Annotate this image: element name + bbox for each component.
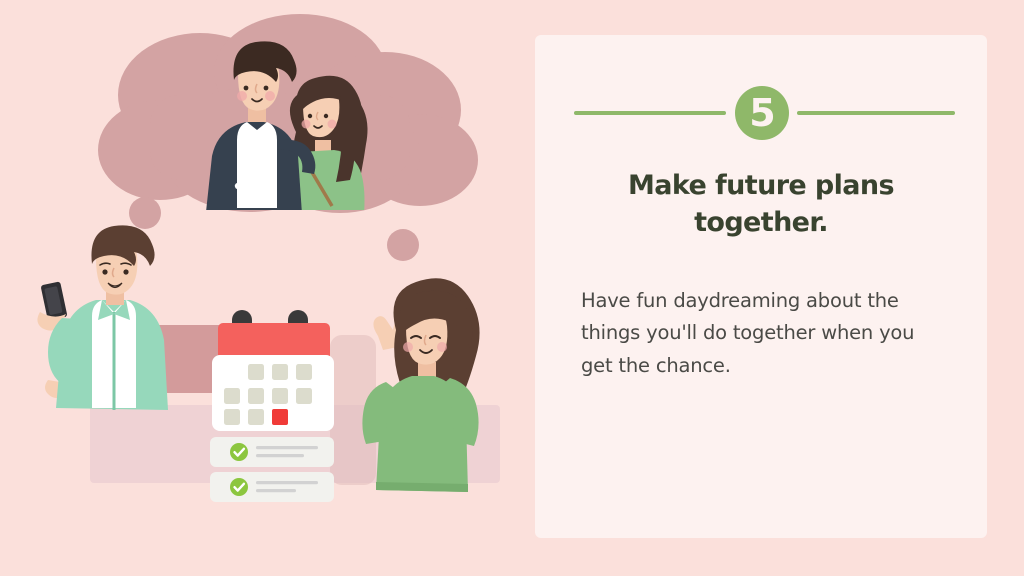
content-card: 5 Make future plans together. Have fun d…	[535, 35, 987, 538]
calendar-highlighted-day	[272, 409, 288, 425]
step-number-label: 5	[749, 94, 774, 132]
divider-line-right	[797, 111, 955, 115]
checklist-card	[210, 472, 334, 502]
man-with-phone	[37, 225, 168, 410]
thought-dot	[387, 229, 419, 261]
thought-dot	[129, 197, 161, 229]
step-divider: 5	[535, 78, 987, 148]
step-number-badge: 5	[735, 86, 789, 140]
card-heading: Make future plans together.	[571, 168, 951, 241]
divider-line-left	[574, 111, 726, 115]
slide-canvas: 5 Make future plans together. Have fun d…	[0, 0, 1024, 576]
card-body-text: Have fun daydreaming about the things yo…	[581, 285, 941, 382]
illustration-panel	[0, 0, 530, 576]
woman-waving	[362, 278, 479, 492]
checklist-card	[210, 437, 334, 467]
illustration-graphic	[0, 0, 530, 576]
